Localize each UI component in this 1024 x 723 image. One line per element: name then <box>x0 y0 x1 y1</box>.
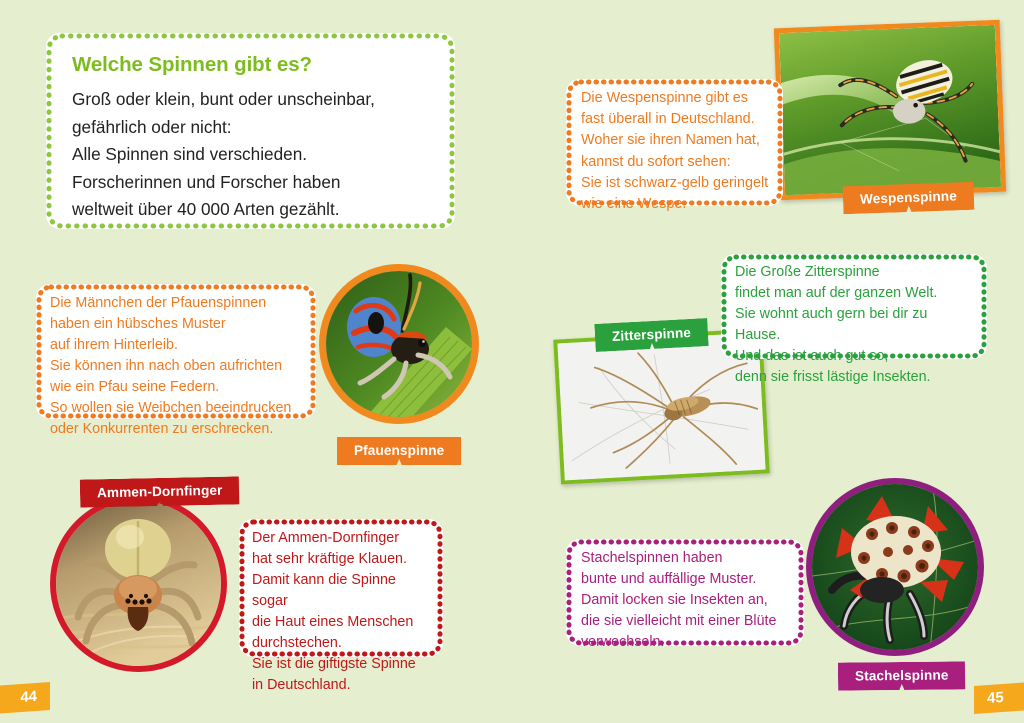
page-number-right: 45 <box>974 682 1024 714</box>
callout-pfauenspinne: Die Männchen der Pfauenspinnen haben ein… <box>36 284 316 419</box>
label-wespenspinne: Wespenspinne <box>843 182 975 215</box>
page-number-left: 44 <box>0 682 50 714</box>
wespenspinne-body: Die Wespenspinne gibt es fast überall in… <box>581 88 771 215</box>
zitterspinne-body: Die Große Zitterspinne findet man auf de… <box>735 262 975 388</box>
intro-body: Groß oder klein, bunt oder unscheinbar, … <box>72 86 433 224</box>
pfauenspinne-body: Die Männchen der Pfauenspinnen haben ein… <box>50 293 304 440</box>
photo-wespenspinne <box>774 20 1006 201</box>
callout-zitterspinne: Die Große Zitterspinne findet man auf de… <box>721 254 987 359</box>
photo-pfauenspinne <box>319 264 479 424</box>
callout-ammen-dornfinger: Der Ammen-Dornfinger hat sehr kräftige K… <box>239 519 443 657</box>
label-stachelspinne: Stachelspinne <box>838 661 966 690</box>
photo-stachelspinne-image <box>812 484 978 650</box>
ammen-dornfinger-body: Der Ammen-Dornfinger hat sehr kräftige K… <box>252 528 433 696</box>
photo-pfauenspinne-image <box>326 271 472 417</box>
photo-stachelspinne <box>806 478 984 656</box>
photo-ammen-dornfinger-image <box>56 501 221 666</box>
intro-callout: Welche Spinnen gibt es? Groß oder klein,… <box>46 33 455 229</box>
book-spread: Welche Spinnen gibt es? Groß oder klein,… <box>0 0 1024 723</box>
intro-heading: Welche Spinnen gibt es? <box>72 53 433 77</box>
callout-wespenspinne: Die Wespenspinne gibt es fast überall in… <box>566 79 783 206</box>
label-pfauenspinne: Pfauenspinne <box>337 437 461 465</box>
callout-stachelspinne: Stachelspinnen haben bunte und auffällig… <box>566 539 804 646</box>
photo-wespenspinne-image <box>779 25 1001 195</box>
stachelspinne-body: Stachelspinnen haben bunte und auffällig… <box>581 548 792 653</box>
photo-ammen-dornfinger <box>50 495 227 672</box>
